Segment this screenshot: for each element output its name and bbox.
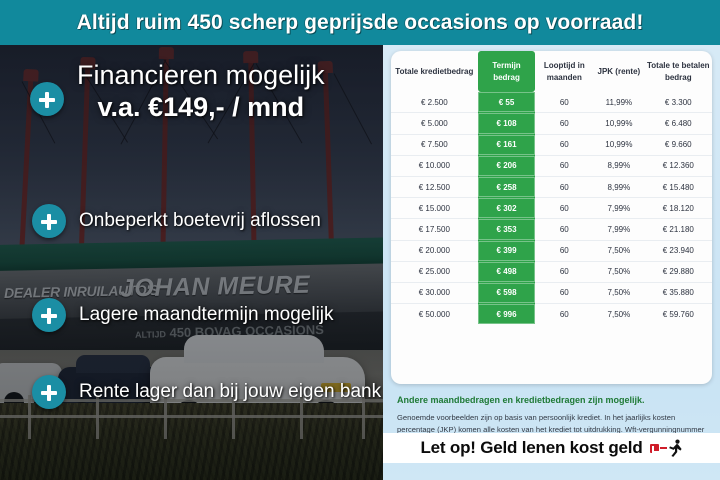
feature-item-3: Rente lager dan bij jouw eigen bank — [32, 375, 381, 409]
feature-financing-line1: Financieren mogelijk — [77, 60, 325, 91]
cell-apr: 8,99% — [593, 176, 644, 197]
cell-instalment: € 302 — [478, 198, 536, 219]
cell-duration: 60 — [535, 240, 593, 261]
table-row: € 2.500€ 556011,99%€ 3.300 — [391, 92, 712, 113]
table-row: € 10.000€ 206608,99%€ 12.360 — [391, 155, 712, 176]
cell-total: € 29.880 — [645, 261, 712, 282]
feature-item-1: Onbeperkt boetevrij aflossen — [32, 204, 321, 238]
plus-icon — [32, 204, 66, 238]
cell-total: € 21.180 — [645, 219, 712, 240]
column-header-credit-amount: Totale kredietbedrag — [391, 51, 478, 92]
table-header-row: Totale kredietbedrag Termijn bedrag Loop… — [391, 51, 712, 92]
feature-label: Onbeperkt boetevrij aflossen — [79, 210, 321, 232]
cell-instalment: € 258 — [478, 176, 536, 197]
column-header-instalment: Termijn bedrag — [478, 51, 536, 92]
cell-credit-amount: € 25.000 — [391, 261, 478, 282]
running-man-glyph — [668, 439, 683, 457]
feature-list: Financieren mogelijk v.a. €149,- / mnd O… — [0, 45, 390, 480]
cell-total: € 23.940 — [645, 240, 712, 261]
column-header-total: Totale te betalen bedrag — [645, 51, 712, 92]
cell-apr: 7,50% — [593, 304, 644, 325]
headline-banner: Altijd ruim 450 scherp geprijsde occasio… — [0, 0, 720, 45]
cell-total: € 9.660 — [645, 134, 712, 155]
plus-icon — [32, 298, 66, 332]
cell-duration: 60 — [535, 134, 593, 155]
table-row: € 20.000€ 399607,50%€ 23.940 — [391, 240, 712, 261]
table-row: € 12.500€ 258608,99%€ 15.480 — [391, 176, 712, 197]
cell-credit-amount: € 20.000 — [391, 240, 478, 261]
cell-total: € 3.300 — [645, 92, 712, 113]
cell-duration: 60 — [535, 261, 593, 282]
rates-table: Totale kredietbedrag Termijn bedrag Loop… — [391, 51, 712, 324]
cell-instalment: € 161 — [478, 134, 536, 155]
cell-instalment: € 55 — [478, 92, 536, 113]
table-row: € 25.000€ 498607,50%€ 29.880 — [391, 261, 712, 282]
cell-credit-amount: € 2.500 — [391, 92, 478, 113]
cell-credit-amount: € 50.000 — [391, 304, 478, 325]
cell-instalment: € 206 — [478, 155, 536, 176]
cell-duration: 60 — [535, 198, 593, 219]
cell-credit-amount: € 15.000 — [391, 198, 478, 219]
cell-total: € 59.760 — [645, 304, 712, 325]
table-row: € 5.000€ 1086010,99%€ 6.480 — [391, 113, 712, 134]
cell-duration: 60 — [535, 282, 593, 303]
column-header-duration: Looptijd in maanden — [535, 51, 593, 92]
cell-apr: 7,99% — [593, 198, 644, 219]
cell-total: € 35.880 — [645, 282, 712, 303]
plus-icon — [30, 82, 64, 116]
cell-instalment: € 996 — [478, 304, 536, 325]
cell-instalment: € 353 — [478, 219, 536, 240]
cell-apr: 7,50% — [593, 261, 644, 282]
credit-panel: Totale kredietbedrag Termijn bedrag Loop… — [383, 45, 720, 480]
feature-label: Lagere maandtermijn mogelijk — [79, 304, 334, 326]
plus-icon — [32, 375, 66, 409]
cell-apr: 10,99% — [593, 134, 644, 155]
cell-instalment: € 598 — [478, 282, 536, 303]
ad-banner: Altijd ruim 450 scherp geprijsde occasio… — [0, 0, 720, 480]
cell-duration: 60 — [535, 176, 593, 197]
table-row: € 30.000€ 598607,50%€ 35.880 — [391, 282, 712, 303]
afm-running-man-icon — [650, 439, 683, 457]
cell-duration: 60 — [535, 155, 593, 176]
cell-total: € 18.120 — [645, 198, 712, 219]
cell-total: € 12.360 — [645, 155, 712, 176]
cell-duration: 60 — [535, 92, 593, 113]
cell-apr: 7,50% — [593, 282, 644, 303]
feature-item-financing: Financieren mogelijk v.a. €149,- / mnd — [30, 60, 325, 123]
warning-banner: Let op! Geld lenen kost geld — [383, 433, 720, 463]
cell-total: € 6.480 — [645, 113, 712, 134]
feature-financing-line2: v.a. €149,- / mnd — [77, 91, 325, 123]
cell-apr: 11,99% — [593, 92, 644, 113]
cell-apr: 7,50% — [593, 240, 644, 261]
cell-credit-amount: € 10.000 — [391, 155, 478, 176]
table-row: € 17.500€ 353607,99%€ 21.180 — [391, 219, 712, 240]
rates-table-card: Totale kredietbedrag Termijn bedrag Loop… — [391, 51, 712, 384]
cell-duration: 60 — [535, 113, 593, 134]
cell-duration: 60 — [535, 219, 593, 240]
warning-text: Let op! Geld lenen kost geld — [420, 438, 642, 458]
cell-total: € 15.480 — [645, 176, 712, 197]
cell-apr: 10,99% — [593, 113, 644, 134]
cell-instalment: € 399 — [478, 240, 536, 261]
column-header-apr: JPK (rente) — [593, 51, 644, 92]
cell-apr: 8,99% — [593, 155, 644, 176]
table-body: € 2.500€ 556011,99%€ 3.300€ 5.000€ 10860… — [391, 92, 712, 324]
table-row: € 15.000€ 302607,99%€ 18.120 — [391, 198, 712, 219]
headline-text: Altijd ruim 450 scherp geprijsde occasio… — [77, 11, 644, 35]
cell-credit-amount: € 5.000 — [391, 113, 478, 134]
feature-item-2: Lagere maandtermijn mogelijk — [32, 298, 334, 332]
feature-label: Rente lager dan bij jouw eigen bank — [79, 381, 381, 403]
cell-instalment: € 108 — [478, 113, 536, 134]
cell-duration: 60 — [535, 304, 593, 325]
cell-credit-amount: € 17.500 — [391, 219, 478, 240]
table-row: € 50.000€ 996607,50%€ 59.760 — [391, 304, 712, 325]
disclaimer-heading: Andere maandbedragen en kredietbedragen … — [397, 395, 705, 405]
table-row: € 7.500€ 1616010,99%€ 9.660 — [391, 134, 712, 155]
cell-apr: 7,99% — [593, 219, 644, 240]
cell-credit-amount: € 7.500 — [391, 134, 478, 155]
cell-credit-amount: € 30.000 — [391, 282, 478, 303]
cell-credit-amount: € 12.500 — [391, 176, 478, 197]
cell-instalment: € 498 — [478, 261, 536, 282]
